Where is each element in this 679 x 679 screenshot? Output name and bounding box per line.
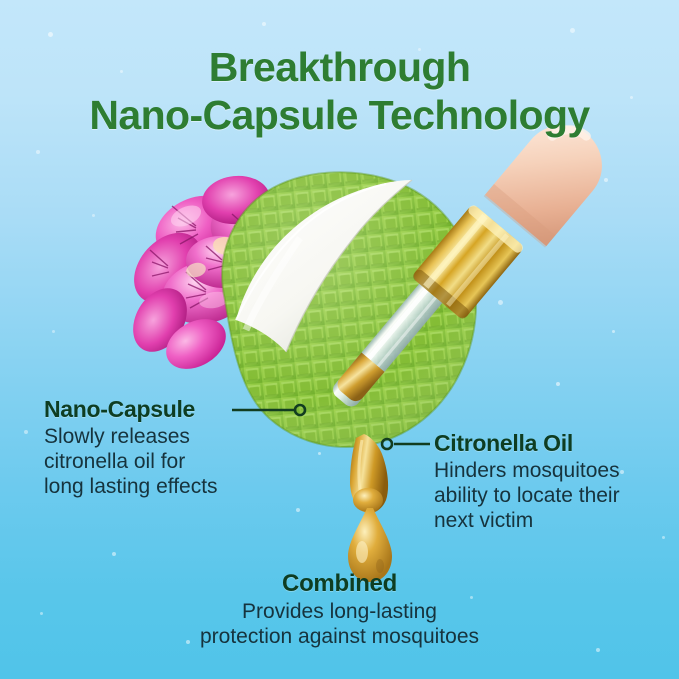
callout-nano-capsule-heading: Nano-Capsule (44, 396, 218, 423)
callout-combined-heading: Combined (0, 570, 679, 598)
callout-citronella-oil-body: Hinders mosquitoes ability to locate the… (434, 459, 620, 533)
title-line-1: Breakthrough (0, 44, 679, 92)
title-line-2: Nano-Capsule Technology (0, 92, 679, 140)
callout-combined: Combined Provides long-lasting protectio… (0, 570, 679, 650)
infographic-canvas: Breakthrough Nano-Capsule Technology Nan… (0, 0, 679, 679)
callout-citronella-oil: Citronella Oil Hinders mosquitoes abilit… (434, 430, 620, 533)
callout-nano-capsule-body: Slowly releases citronella oil for long … (44, 425, 218, 499)
callout-citronella-oil-heading: Citronella Oil (434, 430, 620, 457)
page-title: Breakthrough Nano-Capsule Technology (0, 44, 679, 139)
callout-nano-capsule: Nano-Capsule Slowly releases citronella … (44, 396, 218, 499)
callout-combined-body: Provides long-lasting protection against… (0, 600, 679, 650)
dropper-tip (350, 434, 388, 513)
